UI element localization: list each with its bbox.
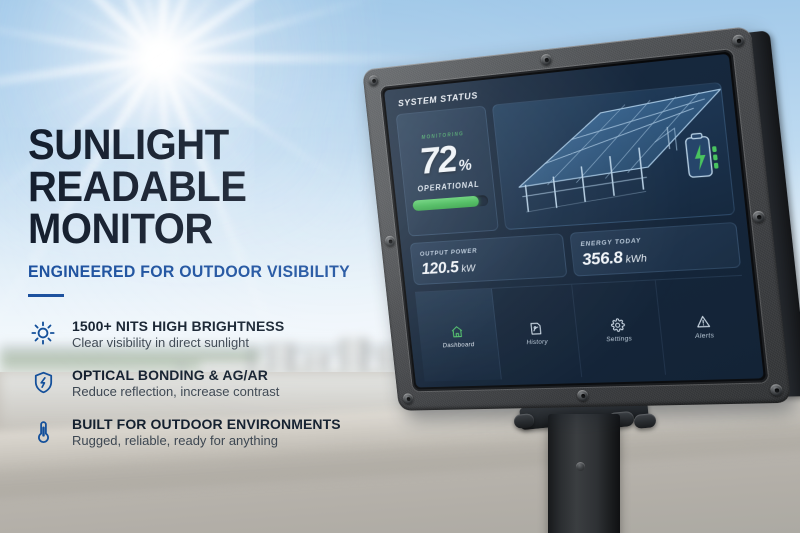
tab-alerts[interactable]: Alerts <box>656 276 753 375</box>
alert-icon <box>695 314 712 330</box>
metric-value: 356.8 <box>581 247 623 268</box>
feature-subtitle: Reduce reflection, increase contrast <box>72 384 279 401</box>
monitor-bezel: SYSTEM STATUS MONITORING 72 % OPERATIONA… <box>362 26 791 411</box>
bezel-screw <box>770 384 783 396</box>
tab-settings[interactable]: Settings <box>572 280 666 377</box>
tab-label: Dashboard <box>442 341 474 349</box>
thermometer-icon <box>28 415 58 447</box>
feature-title: BUILT FOR OUTDOOR ENVIRONMENTS <box>72 416 341 432</box>
feature-title: OPTICAL BONDING & AG/AR <box>72 367 279 383</box>
bezel-screw <box>368 75 379 87</box>
metric-value: 120.5 <box>420 257 459 277</box>
page-subtitle: ENGINEERED FOR OUTDOOR VISIBILITY <box>28 263 366 282</box>
outdoor-monitor: SYSTEM STATUS MONITORING 72 % OPERATIONA… <box>362 26 791 411</box>
bezel-screw <box>385 236 396 247</box>
feature-text: 1500+ NITS HIGH BRIGHTNESS Clear visibil… <box>72 317 284 352</box>
monitor-assembly: SYSTEM STATUS MONITORING 72 % OPERATIONA… <box>352 18 800 438</box>
system-status-card[interactable]: MONITORING 72 % OPERATIONAL <box>396 105 499 236</box>
feature-text: BUILT FOR OUTDOOR ENVIRONMENTS Rugged, r… <box>72 415 341 450</box>
bracket-knob <box>633 413 656 429</box>
shield-bolt-icon <box>28 366 58 398</box>
list-item: BUILT FOR OUTDOOR ENVIRONMENTS Rugged, r… <box>28 415 380 450</box>
bezel-screw <box>752 211 765 223</box>
status-progress-fill <box>412 195 479 211</box>
bottom-nav: Dashboard History <box>415 275 753 382</box>
metric-unit: kWh <box>625 252 647 265</box>
tab-label: Settings <box>606 335 633 343</box>
tab-dashboard[interactable]: Dashboard <box>415 289 502 382</box>
screen-top-row: MONITORING 72 % OPERATIONAL <box>396 82 736 237</box>
battery-icon <box>681 129 722 185</box>
bezel-screw <box>732 34 745 47</box>
page-title: SUNLIGHT READABLE MONITOR <box>28 124 355 250</box>
solar-array-illustration[interactable] <box>492 82 736 230</box>
status-percent: 72 % <box>418 141 473 180</box>
pole-screw <box>576 462 585 471</box>
sun-icon <box>28 317 58 349</box>
metric-card-energy-today[interactable]: ENERGY TODAY 356.8kWh <box>569 222 741 277</box>
metric-unit: kW <box>461 262 476 274</box>
metric-card-output-power[interactable]: OUTPUT POWER 120.5kW <box>410 233 568 285</box>
status-percent-value: 72 <box>418 142 458 180</box>
list-item: 1500+ NITS HIGH BRIGHTNESS Clear visibil… <box>28 317 380 352</box>
percent-symbol: % <box>458 157 473 176</box>
hero-text-panel: SUNLIGHT READABLE MONITOR ENGINEERED FOR… <box>28 124 380 464</box>
feature-subtitle: Clear visibility in direct sunlight <box>72 335 284 352</box>
bezel-screw <box>540 54 552 66</box>
history-icon <box>528 321 544 336</box>
home-icon <box>449 324 464 339</box>
bezel-screw <box>577 390 589 401</box>
monitor-screen[interactable]: SYSTEM STATUS MONITORING 72 % OPERATIONA… <box>384 54 764 388</box>
promo-image: SUNLIGHT READABLE MONITOR ENGINEERED FOR… <box>0 0 800 533</box>
tab-label: Alerts <box>695 332 715 340</box>
feature-text: OPTICAL BONDING & AG/AR Reduce reflectio… <box>72 366 279 401</box>
feature-list: 1500+ NITS HIGH BRIGHTNESS Clear visibil… <box>28 317 380 450</box>
title-divider <box>28 294 64 297</box>
gear-icon <box>609 317 626 333</box>
feature-subtitle: Rugged, reliable, ready for anything <box>72 433 341 450</box>
tab-history[interactable]: History <box>492 285 582 380</box>
tab-label: History <box>526 339 548 347</box>
status-progress-track <box>412 194 488 210</box>
feature-title: 1500+ NITS HIGH BRIGHTNESS <box>72 318 284 334</box>
bezel-screw <box>403 393 414 404</box>
sun-glow <box>158 56 162 60</box>
list-item: OPTICAL BONDING & AG/AR Reduce reflectio… <box>28 366 380 401</box>
pole-mount <box>548 414 620 533</box>
